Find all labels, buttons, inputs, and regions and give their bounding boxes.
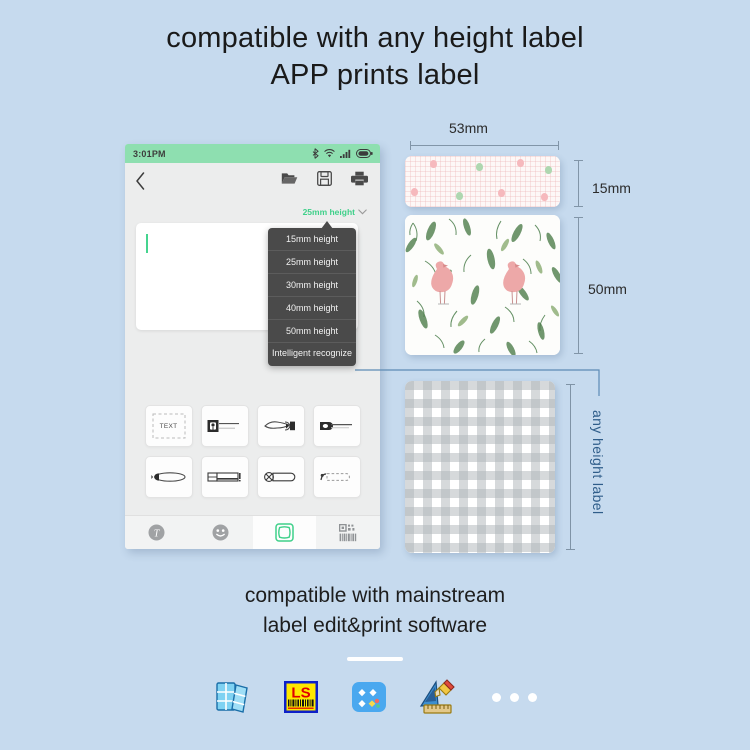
pattern-flamingo-leaves xyxy=(405,215,560,355)
template-dashed-cable[interactable] xyxy=(313,456,361,498)
label-50mm xyxy=(405,215,560,355)
dropdown-item-1[interactable]: 25mm height xyxy=(268,251,356,274)
save-icon xyxy=(317,171,332,186)
rounded-square-icon xyxy=(275,523,294,542)
tab-emoji[interactable] xyxy=(189,516,253,549)
dimension-height-50-label: 50mm xyxy=(588,281,627,297)
label-sheet-glyph xyxy=(215,679,251,715)
page-title: compatible with any height label APP pri… xyxy=(0,20,750,94)
qr-design-software-icon[interactable] xyxy=(350,678,388,716)
height-selector-value: 25mm height xyxy=(303,207,355,217)
dashed-cable-label-icon xyxy=(319,470,355,484)
label-any-height xyxy=(405,381,555,553)
pattern-pink-grid-fruit xyxy=(405,156,560,207)
cable-flag-label-icon xyxy=(207,418,243,434)
template-cable-flag[interactable] xyxy=(201,405,249,447)
dimension-height-50-rule xyxy=(578,217,579,354)
ruler-pencil-glyph xyxy=(418,679,456,715)
print-icon xyxy=(351,171,368,186)
template-cable-tie[interactable] xyxy=(257,456,305,498)
subtitle-line-2: label edit&print software xyxy=(263,614,487,637)
cable-wrap-label-icon xyxy=(263,418,299,434)
dropdown-item-5[interactable]: Intelligent recognize xyxy=(268,343,356,366)
template-row-1: TEXT xyxy=(125,405,380,447)
svg-text:LS: LS xyxy=(291,685,310,702)
patch-panel-label-icon xyxy=(207,470,243,485)
back-button[interactable] xyxy=(135,170,153,192)
pattern-gray-gingham xyxy=(405,381,555,553)
status-bar: 3:01PM xyxy=(125,144,380,163)
template-row-2 xyxy=(125,456,380,498)
template-text[interactable]: TEXT xyxy=(145,405,193,447)
any-height-label-text: any height label xyxy=(590,410,606,514)
cable-tag-label-icon xyxy=(319,419,355,433)
software-logo-row: LS xyxy=(0,678,750,716)
dot-1 xyxy=(492,693,501,702)
dimension-any-height-rule xyxy=(570,384,571,550)
ruler-pencil-software-icon[interactable] xyxy=(418,678,456,716)
letter-t-icon: T xyxy=(148,524,165,541)
headline-line-2: APP prints label xyxy=(0,57,750,94)
barcode-qr-icon xyxy=(339,524,358,542)
template-cable-wrap[interactable] xyxy=(257,405,305,447)
text-cursor xyxy=(146,234,148,253)
qr-design-glyph xyxy=(351,679,387,715)
ls-barcode-glyph: LS xyxy=(283,680,319,714)
headline-line-1: compatible with any height label xyxy=(0,20,750,57)
dot-2 xyxy=(510,693,519,702)
chevron-down-icon xyxy=(358,209,367,215)
flamingo-2 xyxy=(503,261,525,304)
open-folder-icon xyxy=(281,171,298,186)
dimension-width-label: 53mm xyxy=(449,120,488,136)
height-dropdown-menu[interactable]: 15mm height 25mm height 30mm height 40mm… xyxy=(268,228,356,366)
label-15mm xyxy=(405,156,560,207)
dropdown-item-4[interactable]: 50mm height xyxy=(268,320,356,343)
wifi-icon xyxy=(324,149,335,158)
toolbar-actions xyxy=(281,171,368,191)
tab-text[interactable]: T xyxy=(125,516,189,549)
poster-canvas: compatible with any height label APP pri… xyxy=(0,0,750,750)
template-patch-panel[interactable] xyxy=(201,456,249,498)
open-folder-button[interactable] xyxy=(281,171,298,191)
flamingo-1 xyxy=(431,261,453,304)
height-selector[interactable]: 25mm height xyxy=(303,207,367,217)
bluetooth-icon xyxy=(312,148,319,159)
section-divider xyxy=(347,657,403,661)
dropdown-pointer xyxy=(321,221,333,229)
cellular-signal-icon xyxy=(340,149,351,158)
tab-barcode[interactable] xyxy=(316,516,380,549)
dimension-height-15-label: 15mm xyxy=(592,180,631,196)
print-button[interactable] xyxy=(351,171,368,191)
template-picker: TEXT xyxy=(125,396,380,516)
bottom-tab-bar: T xyxy=(125,515,380,549)
subtitle: compatible with mainstream label edit&pr… xyxy=(0,581,750,641)
dot-3 xyxy=(528,693,537,702)
cable-oval-label-icon xyxy=(151,470,187,484)
more-software-dots xyxy=(492,693,537,702)
app-toolbar xyxy=(125,163,380,199)
cable-tie-label-icon xyxy=(263,470,299,484)
dimension-width-rule xyxy=(410,145,559,146)
status-bar-clock: 3:01PM xyxy=(133,149,166,159)
subtitle-line-1: compatible with mainstream xyxy=(245,584,505,607)
flamingo-leaves-art xyxy=(405,215,560,355)
template-text-label: TEXT xyxy=(160,423,178,430)
battery-icon xyxy=(356,149,373,158)
dropdown-item-3[interactable]: 40mm height xyxy=(268,297,356,320)
tab-shape[interactable] xyxy=(253,516,317,549)
template-cable-oval[interactable] xyxy=(145,456,193,498)
smiley-icon xyxy=(212,524,229,541)
template-cable-tag[interactable] xyxy=(313,405,361,447)
status-bar-icons xyxy=(312,148,373,159)
dropdown-item-2[interactable]: 30mm height xyxy=(268,274,356,297)
save-button[interactable] xyxy=(317,171,332,191)
ls-barcode-software-icon[interactable]: LS xyxy=(282,678,320,716)
dropdown-item-0[interactable]: 15mm height xyxy=(268,228,356,251)
chevron-left-icon xyxy=(135,172,146,190)
dimension-height-15-rule xyxy=(578,160,579,207)
label-sheet-software-icon[interactable] xyxy=(214,678,252,716)
